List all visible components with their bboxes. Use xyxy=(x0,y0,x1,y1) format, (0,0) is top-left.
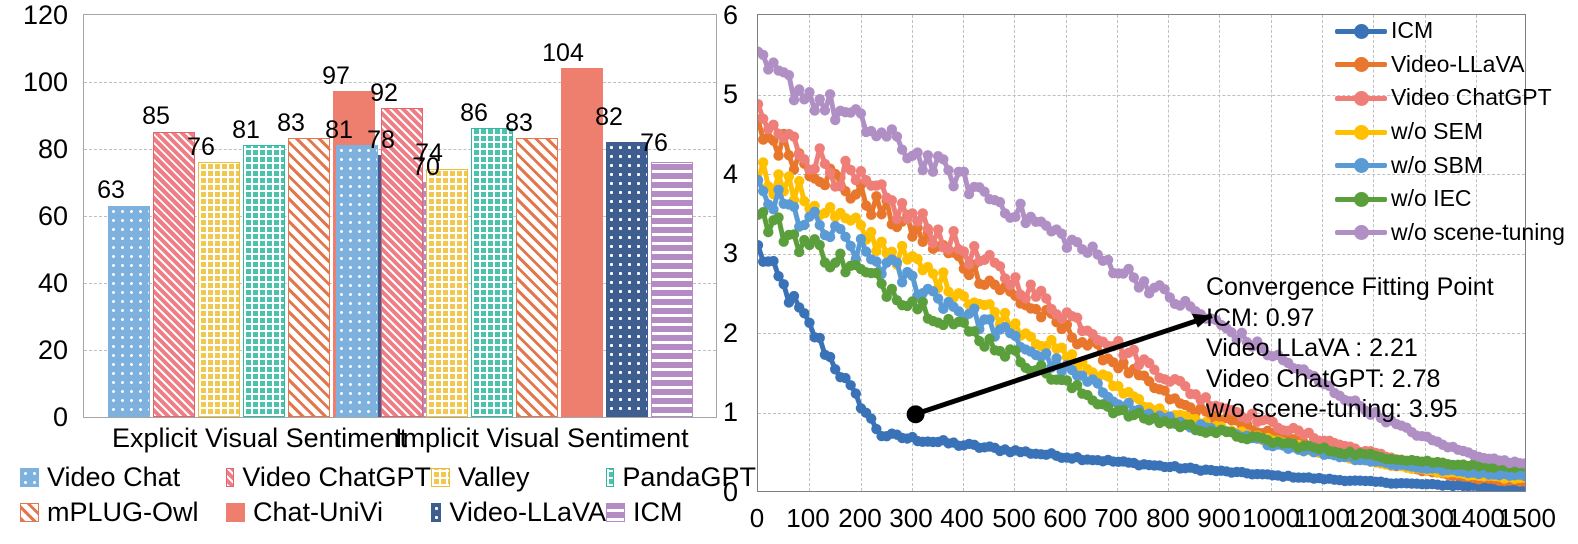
annotation-icm: ICM: 0.97 xyxy=(1206,303,1494,334)
line-legend-item-video-llava[interactable]: Video-LLaVA xyxy=(1335,48,1565,82)
line-legend-label-wo-sem: w/o SEM xyxy=(1391,118,1483,145)
line-xtick-800: 800 xyxy=(1144,505,1192,531)
line-xtick-0: 0 xyxy=(733,505,781,531)
annotation-llava: Video LLaVA : 2.21 xyxy=(1206,333,1494,364)
bar-legend-label-video-chat: Video Chat xyxy=(47,462,180,492)
line-marker-video-llava-icon xyxy=(1335,57,1387,71)
line-legend-item-wo-sem[interactable]: w/o SEM xyxy=(1335,115,1565,149)
bar-ytick-100: 100 xyxy=(0,69,68,96)
bar-ytick-80: 80 xyxy=(0,136,68,163)
line-legend-label-video-llava: Video-LLaVA xyxy=(1391,51,1524,78)
bar-implicit-pandagpt xyxy=(471,128,513,417)
line-ytick-3: 3 xyxy=(700,240,738,267)
bar-group-label-implicit: Implicit Visual Sentiment xyxy=(395,425,685,452)
bar-legend-item-valley[interactable]: Valley xyxy=(431,462,606,492)
bar-implicit-video-llava xyxy=(606,142,648,417)
swatch-mplug-owl-icon xyxy=(20,503,39,522)
bar-label-implicit-valley: 74 xyxy=(404,141,454,166)
bar-label-implicit-video-chat: 81 xyxy=(314,118,364,143)
line-ytick-1: 1 xyxy=(700,399,738,426)
line-ytick-6: 6 xyxy=(700,2,738,29)
line-legend-item-wo-scene-tuning[interactable]: w/o scene-tuning xyxy=(1335,216,1565,250)
line-marker-wo-sbm-icon xyxy=(1335,158,1387,172)
convergence-point-marker xyxy=(907,405,925,423)
line-xtick-1500: 1500 xyxy=(1496,505,1558,531)
bar-label-implicit-icm: 76 xyxy=(629,131,679,156)
bar-label-explicit-pandagpt: 81 xyxy=(221,118,271,143)
swatch-pandagpt-icon xyxy=(606,468,614,487)
bar-legend-item-chat-univi[interactable]: Chat-UniVi xyxy=(226,497,431,527)
bar-implicit-video-chat xyxy=(336,145,378,417)
bar-explicit-mplug-owl xyxy=(288,138,330,417)
line-legend-item-wo-iec[interactable]: w/o IEC xyxy=(1335,182,1565,216)
bar-legend-label-icm: ICM xyxy=(633,497,683,527)
line-marker-wo-scene-tuning-icon xyxy=(1335,225,1387,239)
line-legend-item-video-chatgpt[interactable]: Video ChatGPT xyxy=(1335,81,1565,115)
line-xtick-100: 100 xyxy=(784,505,832,531)
swatch-video-llava-icon xyxy=(431,503,441,522)
bar-explicit-pandagpt xyxy=(243,145,285,417)
bar-ytick-120: 120 xyxy=(0,2,68,29)
bar-legend-label-video-llava: Video-LLaVA xyxy=(449,497,606,527)
line-legend-item-wo-sbm[interactable]: w/o SBM xyxy=(1335,148,1565,182)
bar-legend-item-video-chatgpt[interactable]: Video ChatGPT xyxy=(226,462,431,492)
bar-legend: Video Chat Video ChatGPT Valley PandaGPT xyxy=(20,462,760,532)
line-legend-label-wo-scene-tuning: w/o scene-tuning xyxy=(1391,219,1565,246)
line-legend-item-icm[interactable]: ICM xyxy=(1335,14,1565,48)
bar-ytick-60: 60 xyxy=(0,203,68,230)
line-ytick-4: 4 xyxy=(700,161,738,188)
bar-legend-label-valley: Valley xyxy=(458,462,530,492)
bar-legend-label-video-chatgpt: Video ChatGPT xyxy=(242,462,431,492)
bar-chart-panel: 120 100 80 60 40 20 0 xyxy=(0,0,760,544)
bar-explicit-valley xyxy=(198,162,240,417)
bar-explicit-video-chatgpt xyxy=(153,132,195,417)
line-xtick-500: 500 xyxy=(990,505,1038,531)
bar-label-implicit-mplug-owl: 83 xyxy=(494,111,544,136)
figure-root: 120 100 80 60 40 20 0 xyxy=(0,0,1578,544)
bar-implicit-valley xyxy=(426,169,468,417)
bar-legend-item-mplug-owl[interactable]: mPLUG-Owl xyxy=(20,497,226,527)
line-xtick-900: 900 xyxy=(1195,505,1243,531)
line-marker-wo-sem-icon xyxy=(1335,125,1387,139)
line-legend: ICM Video-LLaVA Video ChatGPT w/o SEM w/… xyxy=(1335,14,1565,249)
line-marker-icm-icon xyxy=(1335,24,1387,38)
convergence-annotation: Convergence Fitting Point ICM: 0.97 Vide… xyxy=(1206,272,1494,425)
line-ytick-5: 5 xyxy=(700,81,738,108)
annotation-scenetune: w/o scene-tuning: 3.95 xyxy=(1206,394,1494,425)
swatch-icm-icon xyxy=(606,503,625,522)
swatch-chat-univi-icon xyxy=(226,503,245,522)
line-xtick-600: 600 xyxy=(1041,505,1089,531)
bar-explicit-video-chat xyxy=(108,206,150,418)
line-xtick-700: 700 xyxy=(1092,505,1140,531)
bar-legend-row-1: Video Chat Video ChatGPT Valley PandaGPT xyxy=(20,462,760,492)
line-marker-wo-iec-icon xyxy=(1335,192,1387,206)
line-legend-label-wo-iec: w/o IEC xyxy=(1391,185,1472,212)
bar-label-explicit-mplug-owl: 83 xyxy=(266,111,316,136)
line-xtick-400: 400 xyxy=(938,505,986,531)
bar-plot-area xyxy=(83,14,717,418)
swatch-video-chatgpt-icon xyxy=(226,468,234,487)
line-ytick-0: 0 xyxy=(700,479,738,506)
bar-label-explicit-chat-univi: 97 xyxy=(311,64,361,89)
bar-label-implicit-video-llava: 82 xyxy=(584,105,634,130)
bar-ytick-40: 40 xyxy=(0,270,68,297)
bar-implicit-icm xyxy=(651,162,693,417)
line-ytick-2: 2 xyxy=(700,320,738,347)
line-legend-label-icm: ICM xyxy=(1391,17,1433,44)
line-legend-label-wo-sbm: w/o SBM xyxy=(1391,152,1483,179)
line-legend-label-video-chatgpt: Video ChatGPT xyxy=(1391,84,1552,111)
annotation-title: Convergence Fitting Point xyxy=(1206,272,1494,303)
bar-group-label-explicit: Explicit Visual Sentiment xyxy=(112,425,402,452)
bar-legend-item-video-chat[interactable]: Video Chat xyxy=(20,462,226,492)
bar-label-explicit-video-chatgpt: 85 xyxy=(131,104,181,129)
bar-ytick-0: 0 xyxy=(0,404,68,431)
annotation-chatgpt: Video ChatGPT: 2.78 xyxy=(1206,364,1494,395)
swatch-valley-icon xyxy=(431,468,450,487)
bar-label-explicit-valley: 76 xyxy=(176,135,226,160)
line-marker-video-chatgpt-icon xyxy=(1335,91,1387,105)
line-xtick-300: 300 xyxy=(887,505,935,531)
line-xtick-200: 200 xyxy=(836,505,884,531)
bar-implicit-mplug-owl xyxy=(516,138,558,417)
bar-legend-item-video-llava[interactable]: Video-LLaVA xyxy=(431,497,606,527)
swatch-video-chat-icon xyxy=(20,468,39,487)
bar-legend-label-mplug-owl: mPLUG-Owl xyxy=(47,497,199,527)
bar-label-explicit-video-chat: 63 xyxy=(86,178,136,203)
bar-label-implicit-chat-univi: 104 xyxy=(533,41,593,66)
bar-legend-label-chat-univi: Chat-UniVi xyxy=(253,497,383,527)
bar-ytick-20: 20 xyxy=(0,337,68,364)
bar-label-implicit-video-chatgpt: 92 xyxy=(359,81,409,106)
bar-legend-row-2: mPLUG-Owl Chat-UniVi Video-LLaVA ICM xyxy=(20,497,760,527)
bar-label-implicit-pandagpt: 86 xyxy=(449,101,499,126)
